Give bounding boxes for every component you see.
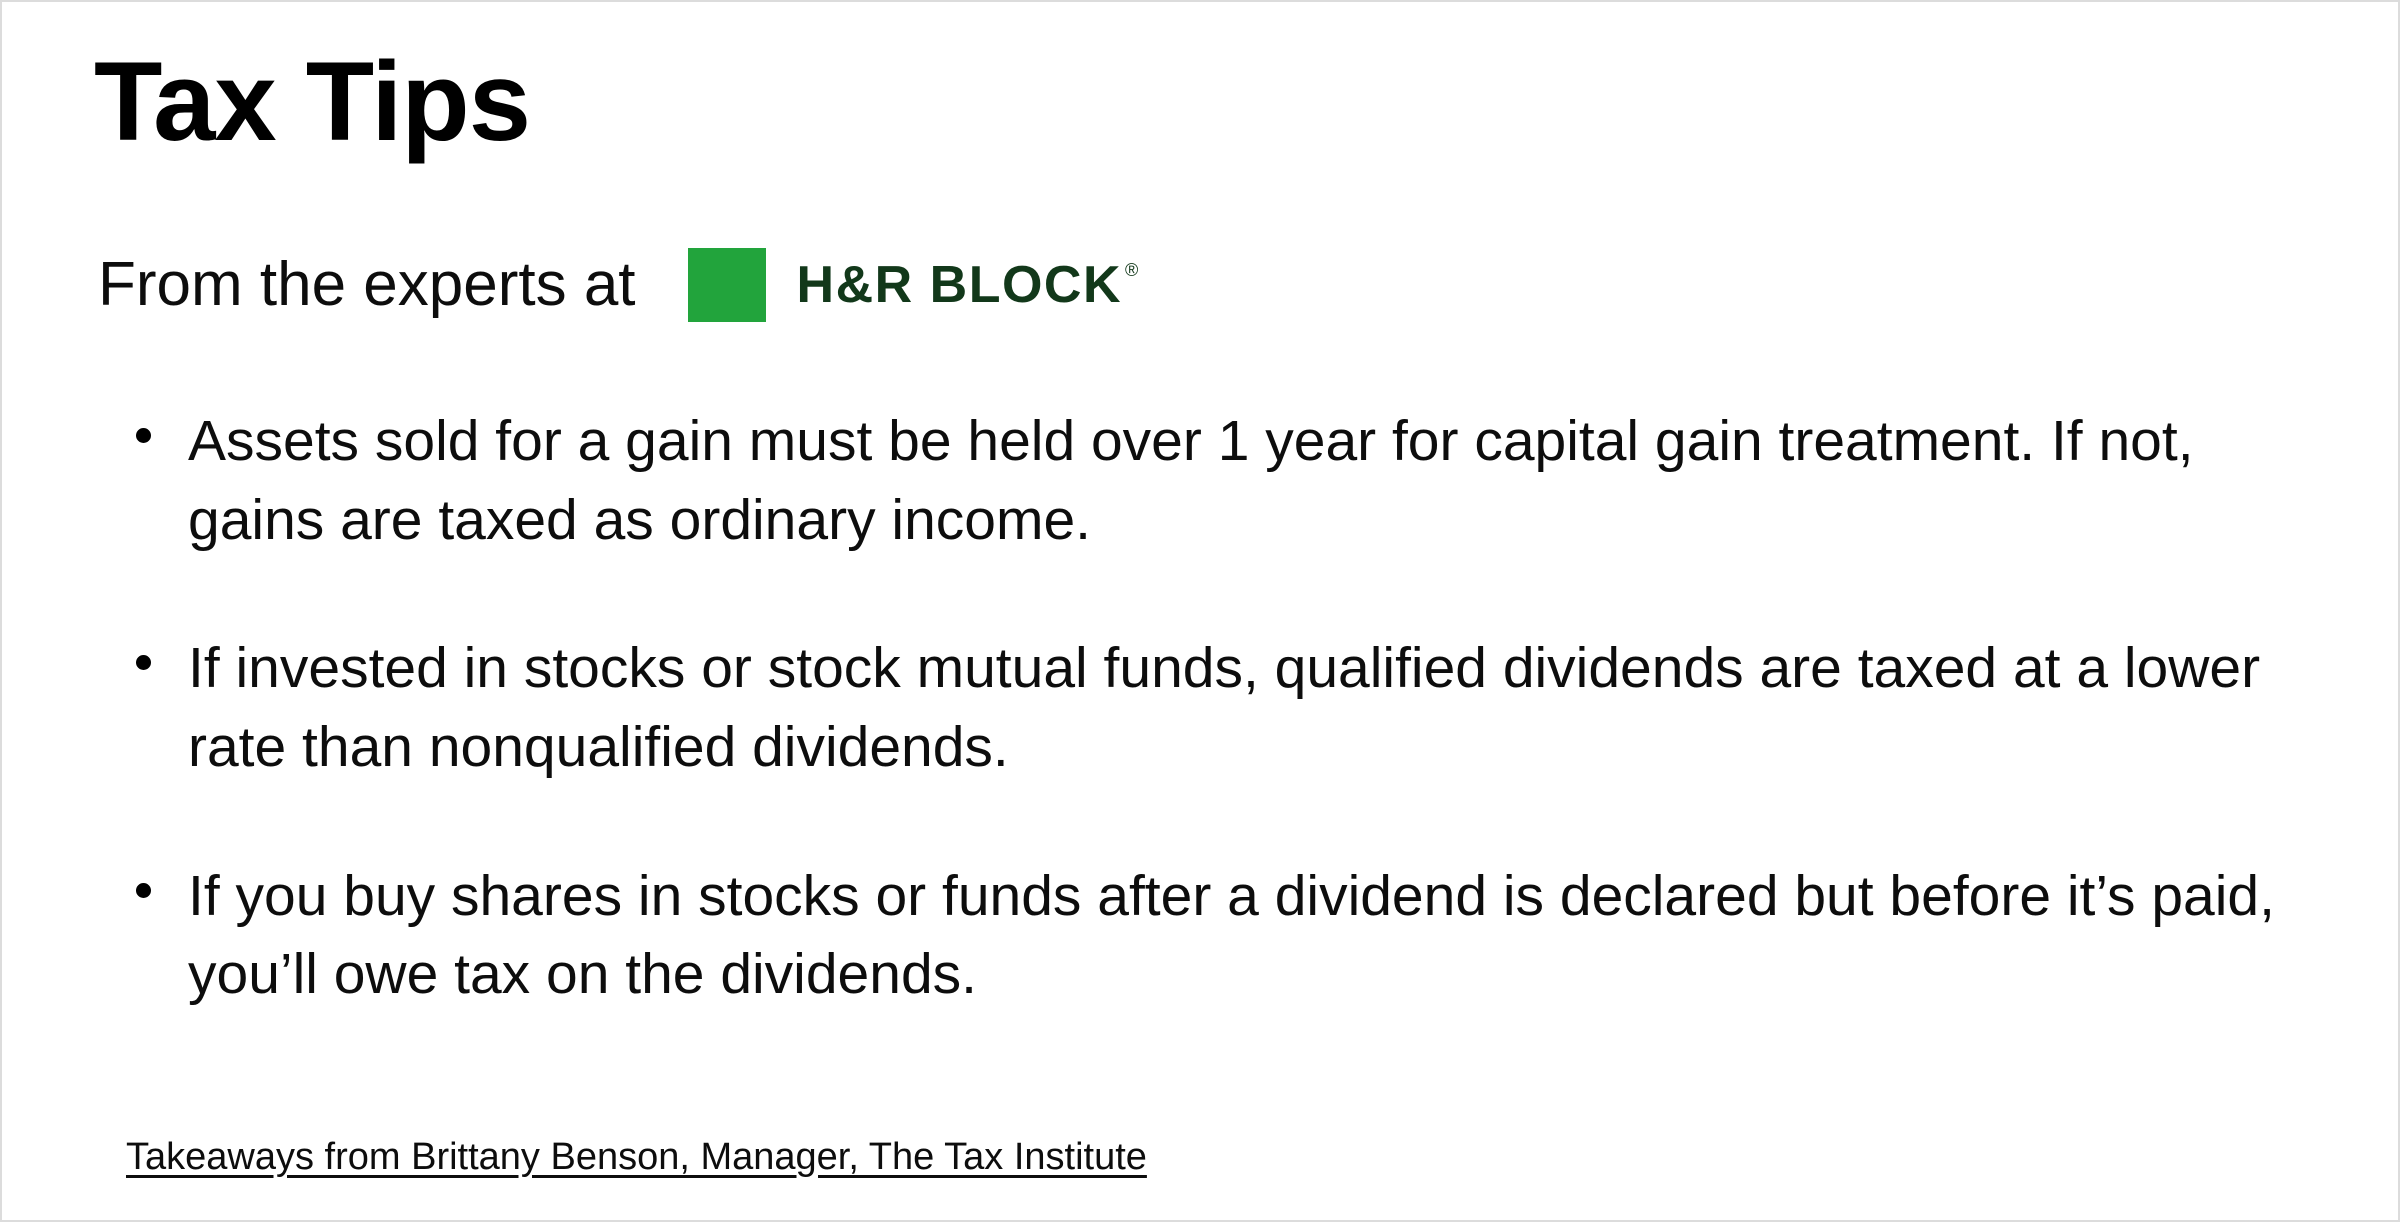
- list-item: Assets sold for a gain must be held over…: [130, 402, 2330, 559]
- list-item: If you buy shares in stocks or funds aft…: [130, 857, 2330, 1014]
- bullet-list: Assets sold for a gain must be held over…: [130, 402, 2330, 1014]
- hr-block-wordmark-text: H&R BLOCK: [797, 259, 1122, 311]
- subtitle-text: From the experts at: [98, 254, 636, 316]
- page-title: Tax Tips: [94, 46, 530, 158]
- registered-trademark-icon: ®: [1125, 261, 1140, 279]
- slide-canvas: Tax Tips From the experts at H&R BLOCK ®…: [0, 0, 2400, 1222]
- attribution-footer: Takeaways from Brittany Benson, Manager,…: [126, 1136, 1147, 1179]
- subtitle-row: From the experts at H&R BLOCK ®: [98, 240, 1140, 330]
- bullet-dot-icon: [136, 428, 151, 443]
- bullet-dot-icon: [136, 655, 151, 670]
- list-item-text: If invested in stocks or stock mutual fu…: [188, 636, 2260, 779]
- hr-block-wordmark: H&R BLOCK ®: [797, 259, 1140, 311]
- list-item-text: If you buy shares in stocks or funds aft…: [188, 864, 2275, 1007]
- list-item: If invested in stocks or stock mutual fu…: [130, 629, 2330, 786]
- hr-block-logo: H&R BLOCK ®: [688, 246, 1140, 324]
- bullet-dot-icon: [136, 883, 151, 898]
- list-item-text: Assets sold for a gain must be held over…: [188, 409, 2194, 552]
- slide-content: Tax Tips From the experts at H&R BLOCK ®…: [2, 2, 2400, 1222]
- green-square-icon: [688, 248, 766, 322]
